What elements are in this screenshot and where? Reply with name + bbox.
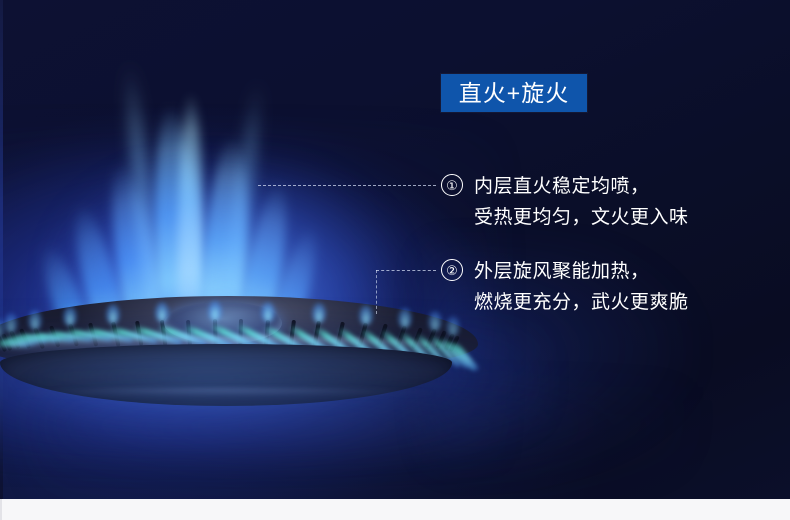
annotation-marker-2: ② [441, 259, 463, 281]
annotation-text-2: 外层旋风聚能加热， 燃烧更充分，武火更爽脆 [474, 256, 689, 318]
product-photo: 直火+旋火 ① 内层直火稳定均喷， 受热更均匀，文火更入味 ② 外层旋风聚能加热… [0, 0, 790, 499]
flame-tip [428, 311, 442, 331]
bottom-sheen-glow [40, 400, 680, 499]
flame-tip [446, 316, 460, 336]
annotation-2-line-2: 燃烧更充分，武火更爽脆 [474, 287, 689, 318]
flame-tip [4, 313, 18, 333]
annotation-text-1: 内层直火稳定均喷， 受热更均匀，文火更入味 [474, 171, 689, 233]
page-bottom-strip [0, 499, 790, 520]
dashed-leader-inner-flame [258, 185, 436, 186]
annotation-1-line-2: 受热更均匀，文火更入味 [474, 202, 689, 233]
burner-assembly [0, 296, 478, 406]
product-feature-screenshot: 直火+旋火 ① 内层直火稳定均喷， 受热更均匀，文火更入味 ② 外层旋风聚能加热… [0, 0, 790, 520]
flame-tip [261, 302, 275, 322]
annotation-1-line-1: 内层直火稳定均喷， [474, 171, 689, 202]
flame-tip [155, 302, 169, 322]
flame-tip [106, 304, 120, 324]
flame-tip [398, 308, 412, 328]
flame-tip [359, 305, 373, 325]
flame-tip [208, 301, 222, 321]
annotation-item-2: ② 外层旋风聚能加热， 燃烧更充分，武火更爽脆 [441, 256, 689, 318]
flame-tip [63, 306, 77, 326]
annotation-marker-1: ① [441, 174, 463, 196]
annotation-item-1: ① 内层直火稳定均喷， 受热更均匀，文火更入味 [441, 171, 689, 233]
page-bottom-strip-edge [0, 499, 2, 520]
title-badge: 直火+旋火 [441, 74, 587, 112]
burner-base-highlight [14, 388, 434, 398]
annotation-2-line-1: 外层旋风聚能加热， [474, 256, 689, 287]
flame-tip [28, 310, 42, 330]
dashed-leader-outer-flame-horizontal [376, 270, 436, 271]
dashed-leader-outer-flame-vertical [376, 270, 377, 314]
title-badge-label: 直火+旋火 [459, 82, 569, 105]
